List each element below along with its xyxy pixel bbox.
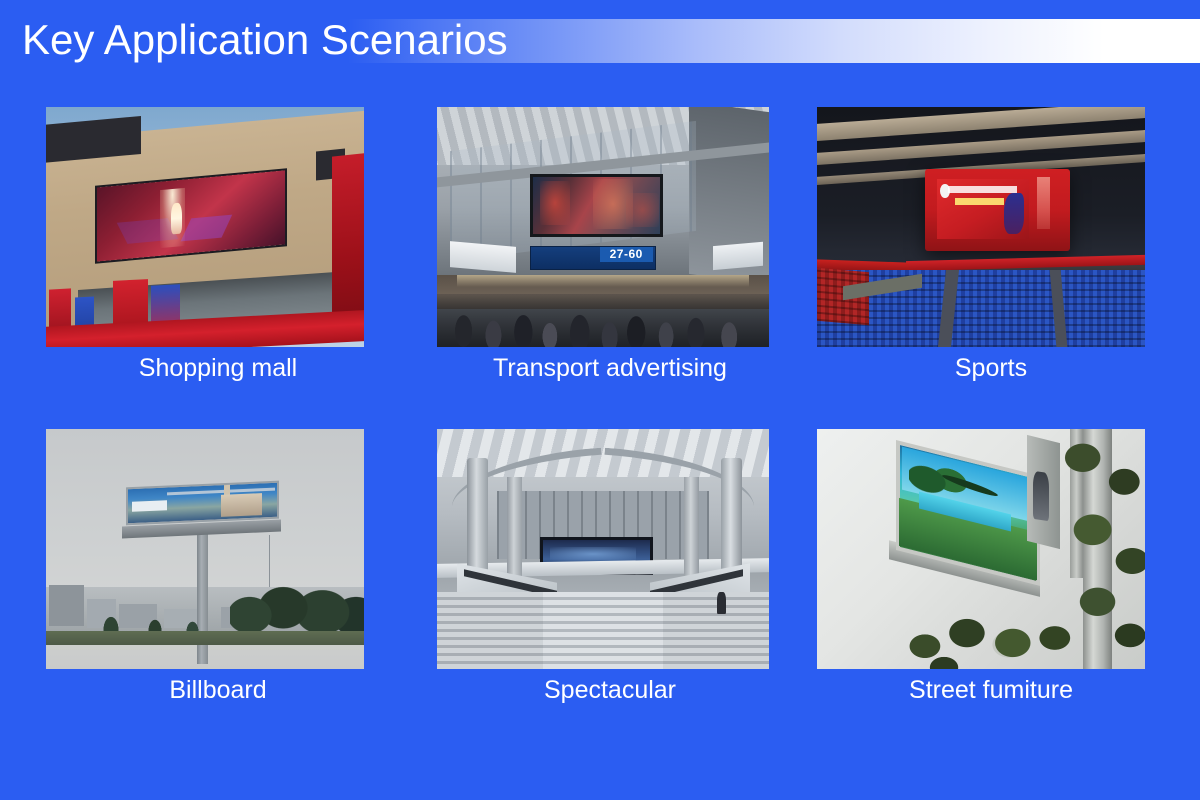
billboard-parked-cars xyxy=(46,643,364,669)
photo-sports xyxy=(817,107,1145,347)
photo-shopping-mall xyxy=(46,107,364,347)
scenario-gallery: Shopping mall 27-60 xyxy=(0,95,1200,800)
scene-sports-arena xyxy=(817,107,1145,347)
airport-crowd xyxy=(437,294,769,347)
arena-scoreboard-headline xyxy=(948,186,1017,193)
scenario-card-street-furniture[interactable]: Street fumiture xyxy=(805,429,1177,719)
hall-pedestrian xyxy=(717,592,726,614)
billboard-building-1 xyxy=(49,585,84,626)
scene-shopping-mall xyxy=(46,107,364,347)
caption-spectacular: Spectacular xyxy=(424,674,796,706)
arena-scoreboard-figure xyxy=(1004,193,1024,234)
caption-shopping-mall: Shopping mall xyxy=(32,352,404,384)
scene-billboard xyxy=(46,429,364,669)
scene-airport-terminal: 27-60 xyxy=(437,107,769,347)
caption-transport-advertising: Transport advertising xyxy=(424,352,796,384)
photo-spectacular xyxy=(437,429,769,669)
scenario-card-shopping-mall[interactable]: Shopping mall xyxy=(32,107,404,397)
airport-floor-lighting xyxy=(457,275,749,287)
page-title: Key Application Scenarios xyxy=(22,14,508,66)
photo-transport-advertising: 27-60 xyxy=(437,107,769,347)
street-foliage-bottom xyxy=(902,597,1092,669)
photo-billboard xyxy=(46,429,364,669)
airport-white-sign-left xyxy=(450,241,516,273)
scene-station-hall xyxy=(437,429,769,669)
airport-white-sign-right xyxy=(713,242,763,270)
caption-billboard: Billboard xyxy=(32,674,404,706)
airport-gate-number-label: 27-60 xyxy=(600,247,653,261)
hall-staircase-center xyxy=(543,592,663,669)
scenario-card-spectacular[interactable]: Spectacular xyxy=(424,429,796,719)
scenario-card-billboard[interactable]: Billboard xyxy=(32,429,404,719)
mall-screen-performer xyxy=(171,203,182,235)
billboard-artwork-boat xyxy=(132,500,167,511)
caption-street-furniture: Street fumiture xyxy=(805,674,1177,706)
arena-scoreboard-tower-graphic xyxy=(1037,177,1050,230)
photo-street-furniture xyxy=(817,429,1145,669)
arena-scoreboard-subline xyxy=(955,198,1004,205)
hall-screen-content xyxy=(550,547,636,561)
airport-screen-content-left xyxy=(540,181,570,224)
page-header: Key Application Scenarios xyxy=(0,0,1200,90)
street-worker xyxy=(1033,471,1049,521)
scenario-card-sports[interactable]: Sports xyxy=(805,107,1177,397)
gallery-row: Shopping mall 27-60 xyxy=(0,107,1200,397)
gallery-row: Billboard xyxy=(0,429,1200,719)
caption-sports: Sports xyxy=(805,352,1177,384)
billboard-artwork-building xyxy=(221,493,262,516)
airport-screen-content-right xyxy=(626,193,659,227)
scene-street-led-display xyxy=(817,429,1145,669)
scenario-card-transport-advertising[interactable]: 27-60 Transport advertising xyxy=(424,107,796,397)
mall-right-banner xyxy=(332,153,364,329)
